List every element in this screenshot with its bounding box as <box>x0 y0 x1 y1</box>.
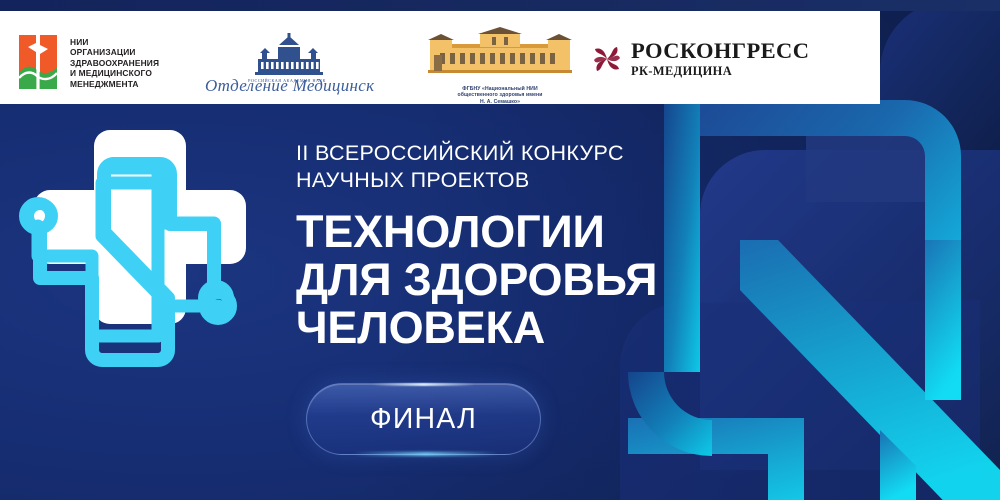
kicker-line-1: II ВСЕРОССИЙСКИЙ КОНКУРС <box>296 140 726 167</box>
roscongress-logo: РОСКОНГРЕСС РК-МЕДИЦИНА <box>592 39 809 78</box>
title-line-2: ДЛЯ ЗДОРОВЬЯ <box>296 256 726 304</box>
top-strip <box>0 0 1000 11</box>
open-book-mark <box>16 33 60 93</box>
final-button[interactable]: ФИНАЛ <box>306 383 541 455</box>
semashko-logo: ФГБНУ «Национальный НИИ общественного зд… <box>420 31 580 101</box>
event-banner: НИИ ОРГАНИЗАЦИИ ЗДРАВООХРАНЕНИЯ И МЕДИЦИ… <box>0 0 1000 500</box>
academy-building-mark: РОССИЙСКАЯ АКАДЕМИЯ НАУК Отделение Медиц… <box>200 33 375 95</box>
medical-cross-circuit-emblem <box>18 128 248 374</box>
nii-logo: НИИ ОРГАНИЗАЦИИ ЗДРАВООХРАНЕНИЯ И МЕДИЦИ… <box>16 33 159 93</box>
semashko-building-mark <box>420 27 580 79</box>
title-line-1: ТЕХНОЛОГИИ <box>296 208 726 256</box>
sponsor-logo-bar: НИИ ОРГАНИЗАЦИИ ЗДРАВООХРАНЕНИЯ И МЕДИЦИ… <box>0 11 880 104</box>
event-title: ТЕХНОЛОГИИ ДЛЯ ЗДОРОВЬЯ ЧЕЛОВЕКА <box>296 208 726 352</box>
button-top-glow <box>372 383 475 386</box>
roscongress-title: РОСКОНГРЕСС <box>631 39 809 63</box>
pinwheel-mark <box>592 44 622 74</box>
button-bottom-glow <box>354 452 498 456</box>
final-button-label: ФИНАЛ <box>370 403 477 436</box>
kicker-line-2: НАУЧНЫХ ПРОЕКТОВ <box>296 167 726 194</box>
semashko-caption: ФГБНУ «Национальный НИИ общественного зд… <box>420 86 580 106</box>
ras-medical-logo: РОССИЙСКАЯ АКАДЕМИЯ НАУК Отделение Медиц… <box>200 33 375 95</box>
ras-script-text: Отделение Медицинских Наук <box>205 76 375 95</box>
title-line-3: ЧЕЛОВЕКА <box>296 304 726 352</box>
nii-logo-text: НИИ ОРГАНИЗАЦИИ ЗДРАВООХРАНЕНИЯ И МЕДИЦИ… <box>70 37 159 90</box>
headline-block: II ВСЕРОССИЙСКИЙ КОНКУРС НАУЧНЫХ ПРОЕКТО… <box>296 140 726 352</box>
roscongress-subtitle: РК-МЕДИЦИНА <box>631 64 809 78</box>
event-kicker: II ВСЕРОССИЙСКИЙ КОНКУРС НАУЧНЫХ ПРОЕКТО… <box>296 140 726 193</box>
